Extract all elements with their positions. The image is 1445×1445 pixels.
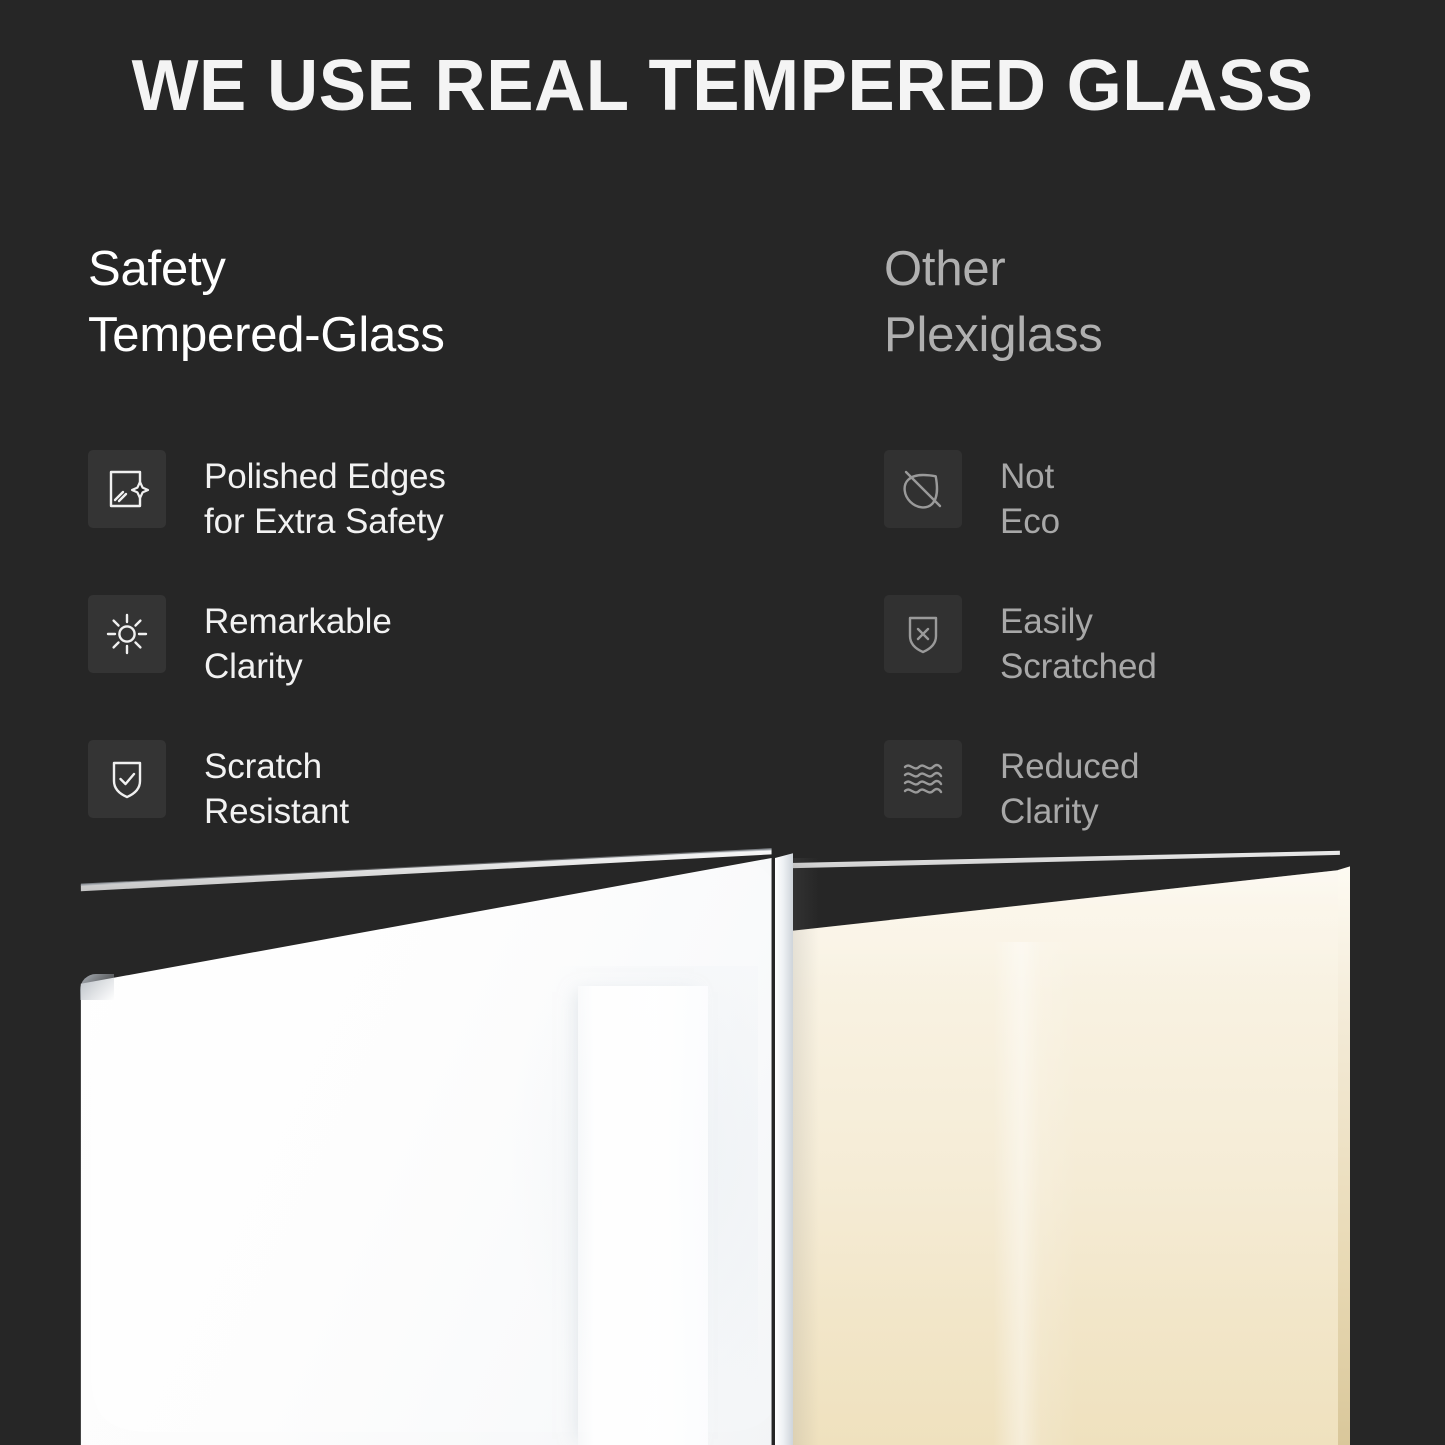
- column-title-plexiglass: Other Plexiglass: [884, 236, 1404, 368]
- comparison-column-tempered-glass: Safety Tempered-Glass Poli: [88, 236, 848, 368]
- feature-label: Remarkable Clarity: [204, 593, 392, 689]
- feature-row: Not Eco: [884, 448, 1404, 593]
- feature-list-plexiglass: Not Eco Easily Scratched: [884, 448, 1404, 883]
- plexiglass-panel: [790, 846, 1350, 1445]
- tempered-glass-panel-corner: [80, 974, 114, 1000]
- plexiglass-panel-face: [790, 846, 1350, 1445]
- icon-tile: [884, 595, 962, 673]
- feature-label: Not Eco: [1000, 448, 1060, 544]
- feature-row: Polished Edges for Extra Safety: [88, 448, 848, 593]
- tempered-glass-panel-side-edge: [775, 846, 793, 1445]
- tempered-glass-panel: [78, 846, 793, 1445]
- feature-row: Easily Scratched: [884, 593, 1404, 738]
- leaf-crossed-out-icon: [900, 466, 946, 512]
- tempered-glass-panel-reflection: [578, 986, 708, 1445]
- feature-label: Scratch Resistant: [204, 738, 349, 834]
- icon-tile: [884, 450, 962, 528]
- tempered-glass-panel-shadow: [789, 858, 819, 1445]
- feature-label: Polished Edges for Extra Safety: [204, 448, 446, 544]
- promo-graphic: WE USE REAL TEMPERED GLASS Safety Temper…: [0, 0, 1445, 1445]
- icon-tile: [88, 595, 166, 673]
- comparison-section: Safety Tempered-Glass Poli: [0, 0, 1445, 860]
- feature-label: Easily Scratched: [1000, 593, 1157, 689]
- product-photo: [0, 846, 1445, 1445]
- shield-x-icon: [900, 611, 946, 657]
- icon-tile: [884, 740, 962, 818]
- feature-row: Remarkable Clarity: [88, 593, 848, 738]
- wavy-lines-distortion-icon: [900, 756, 946, 802]
- shield-check-icon: [104, 756, 150, 802]
- feature-list-tempered-glass: Polished Edges for Extra Safety: [88, 448, 848, 883]
- icon-tile: [88, 740, 166, 818]
- sun-brightness-icon: [104, 611, 150, 657]
- column-title-tempered-glass: Safety Tempered-Glass: [88, 236, 848, 368]
- polished-glass-pane-sparkle-icon: [104, 466, 150, 512]
- icon-tile: [88, 450, 166, 528]
- comparison-column-plexiglass: Other Plexiglass Not Eco: [884, 236, 1404, 368]
- plexiglass-panel-side-edge: [1338, 846, 1350, 1445]
- feature-label: Reduced Clarity: [1000, 738, 1139, 834]
